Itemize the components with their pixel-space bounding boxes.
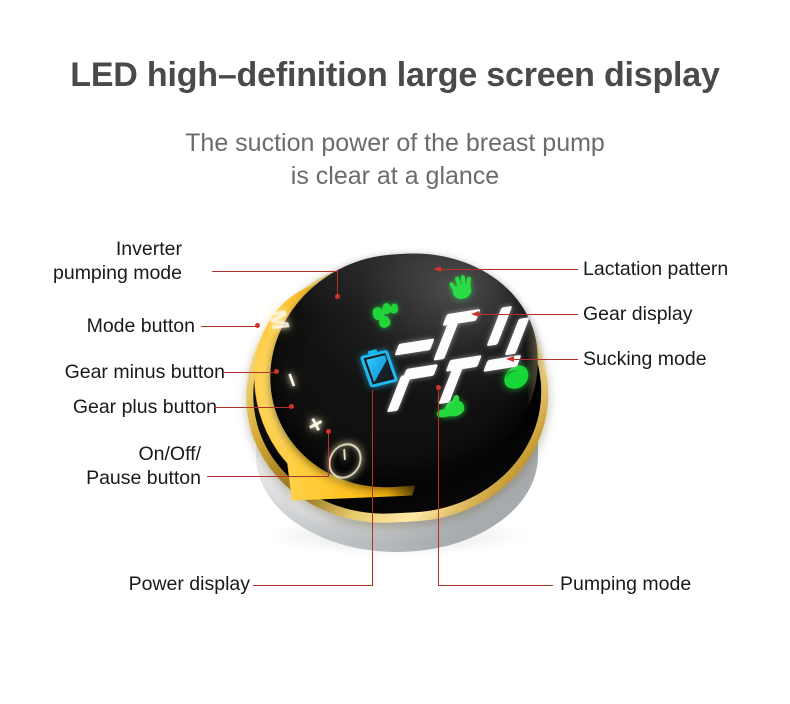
callout-sucking-mode: Sucking mode [583,348,707,372]
leader-sucking-arrow [506,356,514,362]
leader-geardisplay-h [478,314,578,315]
callout-pumping-mode: Pumping mode [560,573,691,597]
callout-line-1: Pumping mode [560,573,691,595]
callout-line-1: Mode button [87,315,195,337]
leader-mode-dot [255,323,260,328]
callout-lactation-pattern: Lactation pattern [583,258,728,282]
leader-powerdisplay-h [253,585,373,586]
callout-line-2: Pause button [86,467,201,491]
leader-gearplus-h [214,407,292,408]
callout-gear-minus-button: Gear minus button [65,361,225,385]
poster-canvas: LED high–definition large screen display… [0,0,790,704]
leader-inverter-h [212,271,338,272]
leader-lactation-h [440,269,578,270]
callout-inverter-pumping-mode: Inverter pumping mode [53,238,182,286]
leader-gearminus-dot [274,369,279,374]
leader-gearminus-h [224,372,277,373]
callout-gear-display: Gear display [583,303,692,327]
leader-mode-h [201,326,258,327]
leader-sucking-h [513,359,578,360]
callout-line-1: Gear plus button [73,396,217,418]
leader-onoff-dot [326,429,331,434]
leader-pumpingmode-h [438,585,553,586]
page-title: LED high–definition large screen display [0,56,790,95]
callout-line-1: Sucking mode [583,348,707,370]
leader-powerdisplay-v [372,390,373,586]
callout-on-off-pause-button: On/Off/ Pause button [86,443,201,491]
callout-line-1: Gear display [583,303,692,325]
leader-lactation-arrow [433,266,441,272]
leader-gearplus-dot [289,404,294,409]
leader-pumpingmode-v [438,388,439,586]
leader-onoff-h [207,476,329,477]
callout-line-1: Inverter [116,238,182,260]
callout-gear-plus-button: Gear plus button [73,396,217,420]
callout-line-2: pumping mode [53,262,182,286]
leader-inverter-dot [335,294,340,299]
callout-line-1: Lactation pattern [583,258,728,280]
leader-pumpingmode-dot [436,385,441,390]
device-illustration: M – + [232,248,562,578]
page-subtitle: The suction power of the breast pump is … [0,127,790,193]
callout-line-1: On/Off/ [139,443,202,465]
subtitle-line-2: is clear at a glance [0,160,790,193]
callout-power-display: Power display [129,573,250,597]
leader-geardisplay-arrow [471,311,479,317]
subtitle-line-1: The suction power of the breast pump [185,129,605,157]
leader-onoff-v [328,432,329,477]
callout-line-1: Gear minus button [65,361,225,383]
callout-line-1: Power display [129,573,250,595]
callout-mode-button: Mode button [87,315,195,339]
